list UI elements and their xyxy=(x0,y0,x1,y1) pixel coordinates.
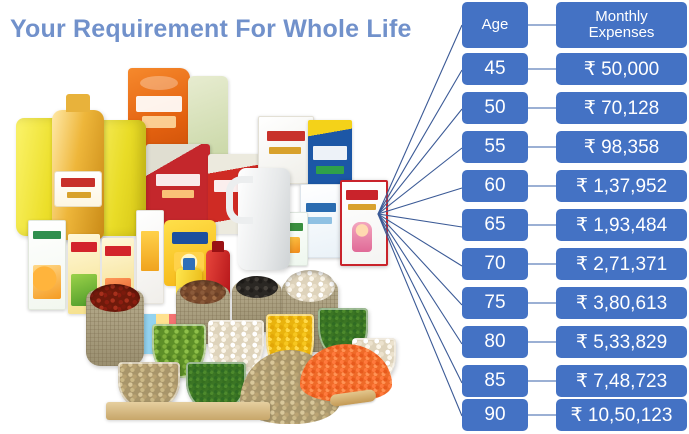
table-row: 65 ₹ 1,93,484 xyxy=(462,209,689,241)
cell-expense[interactable]: ₹ 7,48,723 xyxy=(556,365,687,397)
cell-age[interactable]: 80 xyxy=(462,326,528,358)
cell-age-value: 45 xyxy=(484,58,505,80)
header-cell-age: Age xyxy=(462,2,528,48)
cell-age[interactable]: 90 xyxy=(462,399,528,431)
row-link xyxy=(528,146,556,148)
cell-age-value: 50 xyxy=(484,97,505,119)
cell-expense[interactable]: ₹ 1,93,484 xyxy=(556,209,687,241)
table-row: 60 ₹ 1,37,952 xyxy=(462,170,689,202)
cell-expense[interactable]: ₹ 98,358 xyxy=(556,131,687,163)
cell-age-value: 80 xyxy=(484,331,505,353)
cell-expense-value: ₹ 50,000 xyxy=(584,58,659,81)
cell-age[interactable]: 60 xyxy=(462,170,528,202)
cell-expense[interactable]: ₹ 10,50,123 xyxy=(556,399,687,431)
cell-expense[interactable]: ₹ 70,128 xyxy=(556,92,687,124)
cell-age[interactable]: 55 xyxy=(462,131,528,163)
row-link xyxy=(528,107,556,109)
cell-expense[interactable]: ₹ 5,33,829 xyxy=(556,326,687,358)
cell-expense-value: ₹ 98,358 xyxy=(584,136,659,159)
cell-expense[interactable]: ₹ 3,80,613 xyxy=(556,287,687,319)
product-white-tall-pack xyxy=(136,210,164,304)
row-link xyxy=(528,68,556,70)
table-row: 55 ₹ 98,358 xyxy=(462,131,689,163)
product-amul-gold-milk xyxy=(340,180,388,266)
saffola-label xyxy=(55,172,101,206)
table-row: 50 ₹ 70,128 xyxy=(462,92,689,124)
cell-expense[interactable]: ₹ 50,000 xyxy=(556,53,687,85)
table-row: 80 ₹ 5,33,829 xyxy=(462,326,689,358)
cell-age[interactable]: 50 xyxy=(462,92,528,124)
cell-expense-value: ₹ 1,37,952 xyxy=(576,175,667,198)
cell-age[interactable]: 65 xyxy=(462,209,528,241)
header-row-link xyxy=(528,24,556,26)
cell-age[interactable]: 85 xyxy=(462,365,528,397)
header-expenses-line1: Monthly xyxy=(595,9,648,25)
row-link xyxy=(528,414,556,416)
grocery-basket-photo xyxy=(0,62,392,392)
row-link xyxy=(528,224,556,226)
cell-expense-value: ₹ 70,128 xyxy=(584,97,659,120)
header-age-label: Age xyxy=(482,17,509,33)
cell-age[interactable]: 75 xyxy=(462,287,528,319)
cell-expense[interactable]: ₹ 2,71,371 xyxy=(556,248,687,280)
sack-red-beans-contents xyxy=(90,284,140,312)
cell-expense-value: ₹ 7,48,723 xyxy=(576,370,667,393)
cell-age-value: 55 xyxy=(484,136,505,158)
table-row: 85 ₹ 7,48,723 xyxy=(462,365,689,397)
cell-age-value: 70 xyxy=(484,253,505,275)
table-row: 75 ₹ 3,80,613 xyxy=(462,287,689,319)
infographic-canvas: Your Requirement For Whole Life xyxy=(0,0,689,434)
table-row: 45 ₹ 50,000 xyxy=(462,53,689,85)
wooden-board xyxy=(106,402,270,420)
header-expenses-line2: Expenses xyxy=(589,25,655,41)
table-row: 90 ₹ 10,50,123 xyxy=(462,399,689,431)
sack-white-beans-contents xyxy=(285,270,335,302)
cell-age[interactable]: 45 xyxy=(462,53,528,85)
cell-expense-value: ₹ 2,71,371 xyxy=(576,253,667,276)
cell-age-value: 75 xyxy=(484,292,505,314)
header-cell-expenses: Monthly Expenses xyxy=(556,2,687,48)
sack-black-lentils-contents xyxy=(236,276,278,298)
row-link xyxy=(528,185,556,187)
cell-age-value: 65 xyxy=(484,214,505,236)
table-header-row: Age Monthly Expenses xyxy=(462,2,689,48)
cell-age-value: 90 xyxy=(484,404,505,426)
product-tropicana-juice xyxy=(28,220,66,310)
cell-age-value: 85 xyxy=(484,370,505,392)
sack-red-beans xyxy=(86,290,144,366)
cell-expense-value: ₹ 5,33,829 xyxy=(576,331,667,354)
cell-expense-value: ₹ 3,80,613 xyxy=(576,292,667,315)
row-link xyxy=(528,341,556,343)
sack-pinto-beans-contents xyxy=(180,280,226,304)
white-can-handle xyxy=(226,176,253,224)
cell-expense[interactable]: ₹ 1,37,952 xyxy=(556,170,687,202)
cell-age[interactable]: 70 xyxy=(462,248,528,280)
cell-age-value: 60 xyxy=(484,175,505,197)
table-row: 70 ₹ 2,71,371 xyxy=(462,248,689,280)
cell-expense-value: ₹ 1,93,484 xyxy=(576,214,667,237)
row-link xyxy=(528,380,556,382)
page-title: Your Requirement For Whole Life xyxy=(10,16,412,44)
row-link xyxy=(528,302,556,304)
requirement-table: Age Monthly Expenses 45 ₹ 50,000 50 ₹ 70… xyxy=(462,0,689,434)
row-link xyxy=(528,263,556,265)
cell-expense-value: ₹ 10,50,123 xyxy=(571,404,673,427)
